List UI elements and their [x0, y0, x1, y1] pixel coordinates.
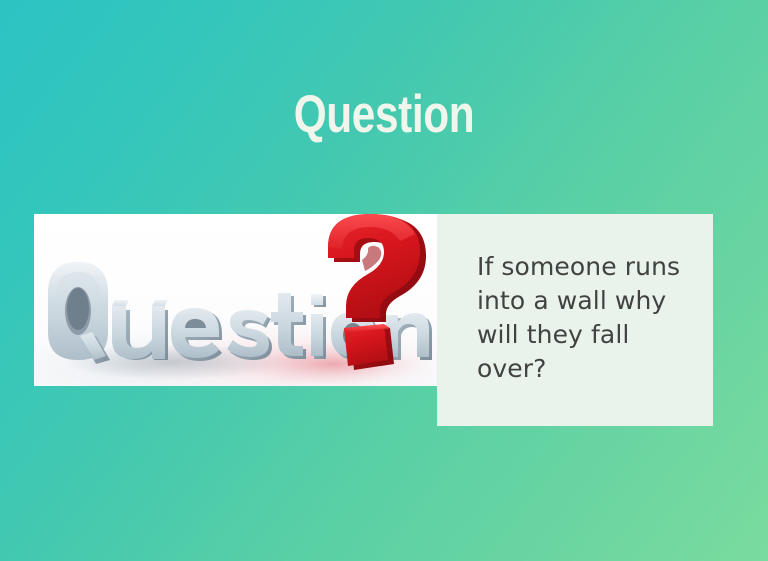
question-3d-illustration [34, 214, 437, 386]
question-image [34, 214, 437, 386]
page-title: Question [77, 86, 691, 144]
question-body-text: If someone runs into a wall why will the… [477, 250, 692, 386]
slide-canvas: Question [0, 0, 768, 561]
question-text-panel: If someone runs into a wall why will the… [437, 214, 713, 426]
content-row: If someone runs into a wall why will the… [34, 214, 713, 426]
